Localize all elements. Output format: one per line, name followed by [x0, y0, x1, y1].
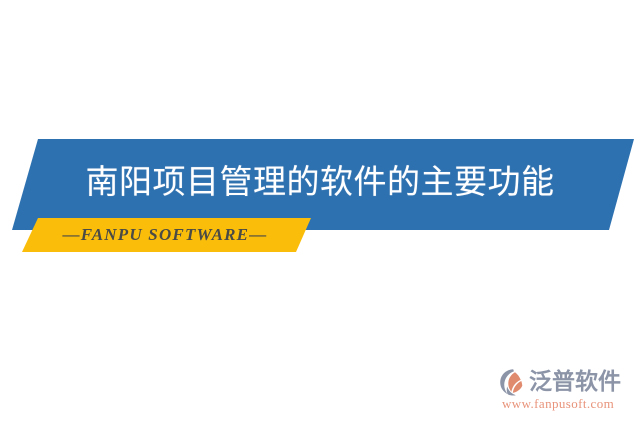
fanpu-swoosh-icon: [498, 367, 528, 397]
logo-brand-name: 泛普软件: [529, 371, 621, 394]
logo-name-row: 泛普软件: [498, 366, 621, 398]
yellow-subtitle-banner: [0, 214, 340, 256]
slide-canvas: 南阳项目管理的软件的主要功能 —FANPU SOFTWARE— 泛普软件 www…: [0, 0, 640, 427]
brand-logo: 泛普软件 www.fanpusoft.com: [498, 366, 640, 418]
logo-website-url: www.fanpusoft.com: [502, 397, 614, 410]
